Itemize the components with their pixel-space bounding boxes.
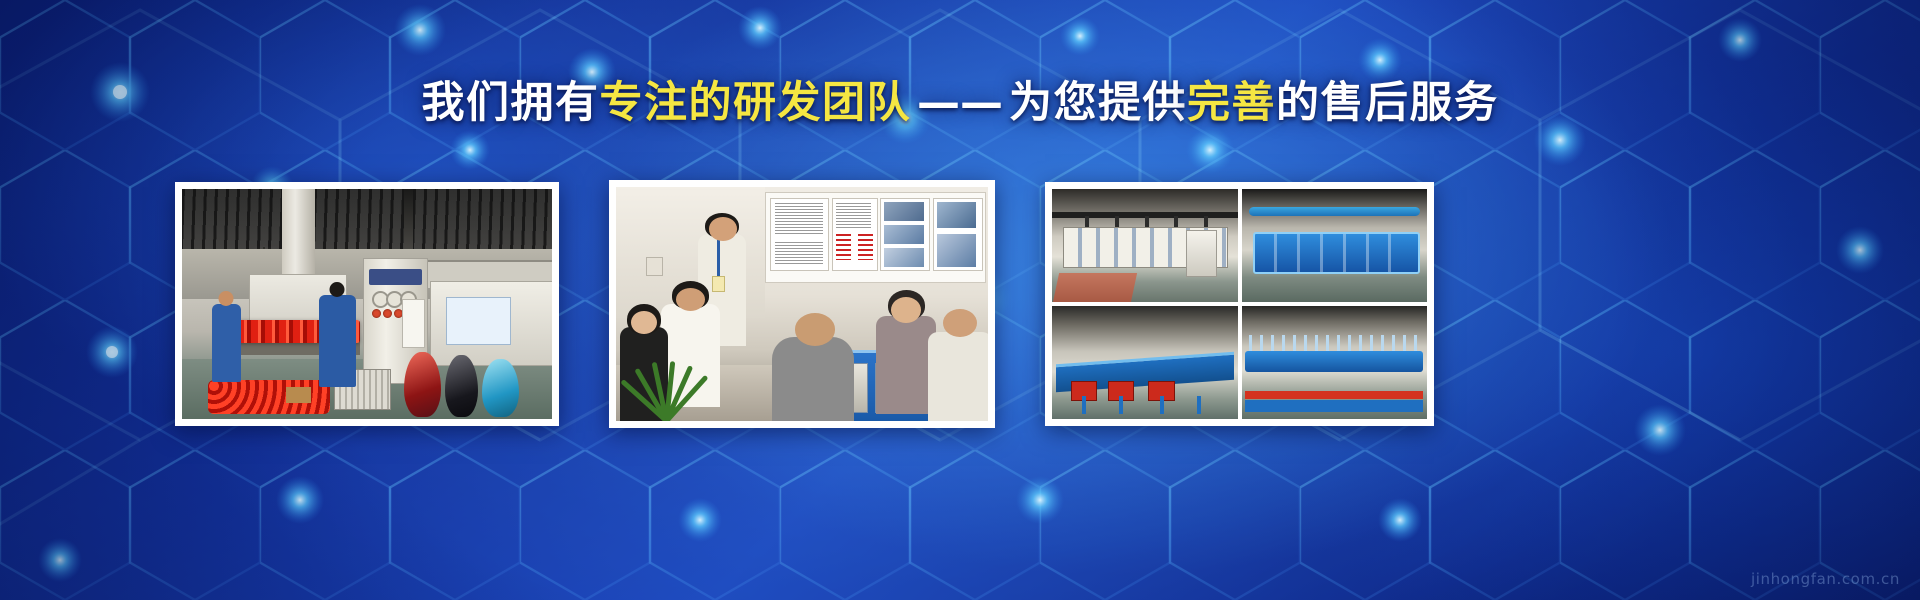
- photo-frame-production-line[interactable]: [175, 182, 559, 426]
- photo-team-meeting: [616, 187, 988, 421]
- headline-dash: ——: [911, 78, 1009, 128]
- photo-production-line: [182, 189, 552, 419]
- site-watermark: jinhongfan.com.cn: [1751, 570, 1900, 588]
- banner-stage: 我们拥有专注的研发团队——为您提供完善的售后服务: [0, 0, 1920, 600]
- headline-segment-1: 我们拥有: [422, 78, 600, 128]
- photo-frame-equipment-collage[interactable]: [1045, 182, 1434, 426]
- headline-segment-6: 的售后服务: [1276, 78, 1499, 128]
- headline-segment-5-highlight: 完善: [1187, 78, 1276, 128]
- photo-frame-team-meeting[interactable]: [609, 180, 995, 428]
- headline-segment-2-highlight: 专注的研发团队: [600, 78, 912, 128]
- photo-equipment-collage: [1052, 189, 1427, 419]
- collage-cell-ovens: [1052, 189, 1238, 302]
- collage-cell-hanging-line: [1242, 306, 1428, 419]
- collage-cell-blue-oven: [1242, 189, 1428, 302]
- banner-headline: 我们拥有专注的研发团队——为您提供完善的售后服务: [0, 82, 1920, 125]
- headline-segment-4: 为您提供: [1009, 78, 1187, 128]
- collage-cell-conveyor: [1052, 306, 1238, 419]
